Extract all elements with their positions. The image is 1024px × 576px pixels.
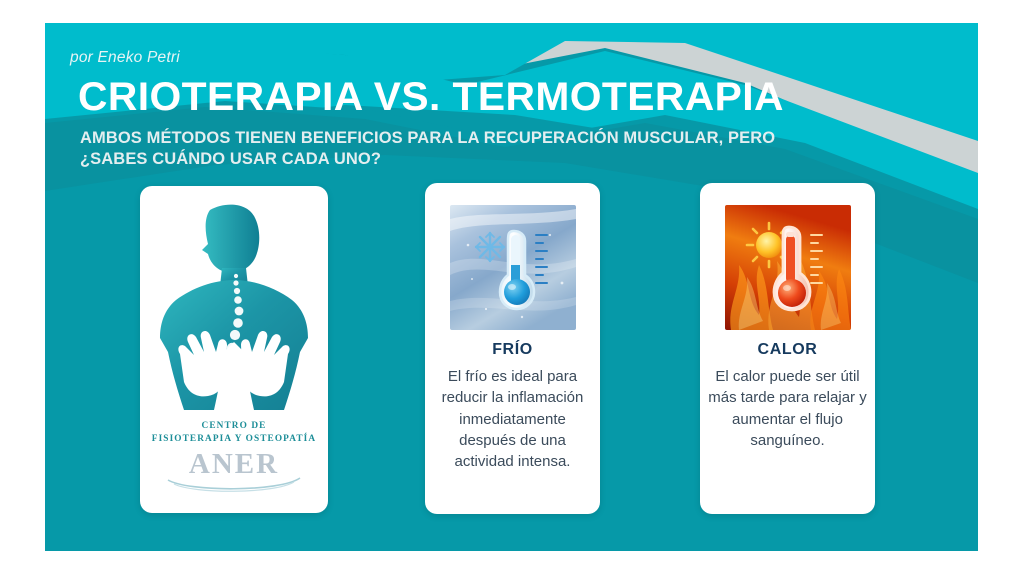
logo-tagline-line-1: CENTRO DE — [140, 420, 328, 433]
cold-card-body: FRÍO El frío es ideal para reducir la in… — [425, 183, 600, 514]
cold-card-heading: FRÍO — [425, 341, 600, 359]
logo-card: CENTRO DE FISIOTERAPIA Y OSTEOPATÍA ANER — [140, 186, 328, 513]
page-title: CRIOTERAPIA VS. TERMOTERAPIA — [78, 76, 784, 118]
cold-card-text: El frío es ideal para reducir la inflama… — [433, 366, 592, 472]
heat-thumbnail — [725, 205, 851, 330]
ice-thermometer-snowflake-image — [450, 205, 576, 330]
logo-wrap: CENTRO DE FISIOTERAPIA Y OSTEOPATÍA ANER — [140, 186, 328, 513]
logo-tagline-line-2: FISIOTERAPIA Y OSTEOPATÍA — [140, 433, 328, 446]
slide-canvas: por Eneko Petri CRIOTERAPIA VS. TERMOTER… — [0, 0, 1024, 576]
heat-card-body: CALOR El calor puede ser útil más tarde … — [700, 183, 875, 514]
page-subtitle: AMBOS MÉTODOS TIENEN BENEFICIOS PARA LA … — [80, 128, 940, 170]
subtitle-line-2: ¿SABES CUÁNDO USAR CADA UNO? — [80, 149, 940, 170]
subtitle-line-1: AMBOS MÉTODOS TIENEN BENEFICIOS PARA LA … — [80, 128, 940, 149]
fire-thermometer-sun-image — [725, 205, 851, 330]
heat-card: CALOR El calor puede ser útil más tarde … — [700, 183, 875, 514]
physiotherapy-torso-spine-icon — [150, 202, 318, 426]
heat-card-text: El calor puede ser útil más tarde para r… — [708, 366, 867, 451]
heat-card-heading: CALOR — [700, 341, 875, 359]
cold-thumbnail — [450, 205, 576, 330]
logo-swoosh-icon — [164, 472, 304, 494]
logo-tagline: CENTRO DE FISIOTERAPIA Y OSTEOPATÍA — [140, 420, 328, 446]
byline: por Eneko Petri — [70, 49, 180, 67]
snowflake-icon — [476, 233, 504, 261]
cold-card: FRÍO El frío es ideal para reducir la in… — [425, 183, 600, 514]
